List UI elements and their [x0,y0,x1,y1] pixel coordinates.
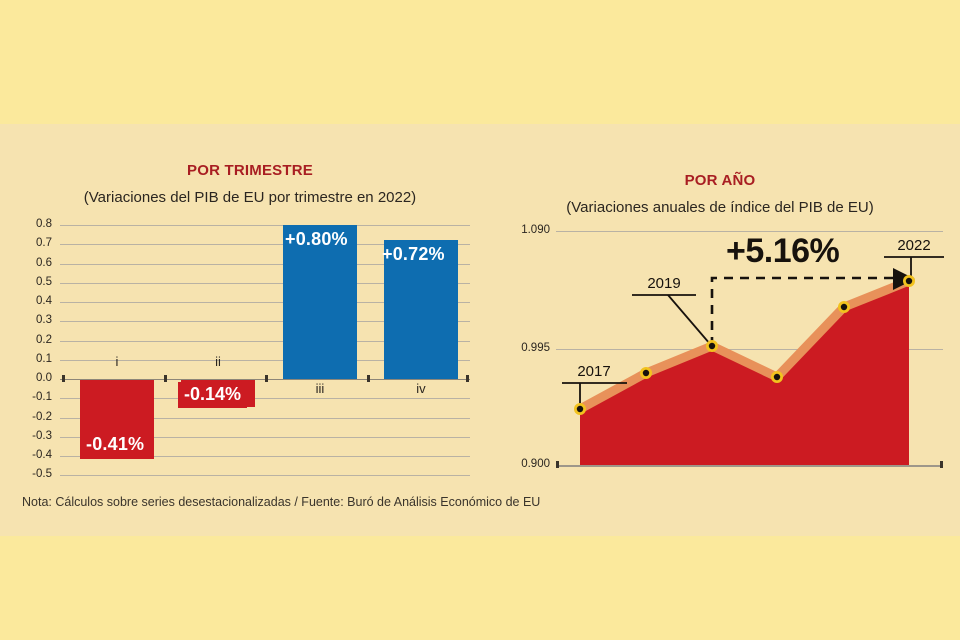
marker-dot-2021 [841,304,847,310]
area-series-svg [0,0,960,640]
growth-callout: +5.16% [726,232,839,271]
area-fill [580,281,909,465]
point-label-2019: 2019 [634,275,694,292]
marker-dot-2020 [774,374,780,380]
source-note: Nota: Cálculos sobre series desestaciona… [22,495,540,509]
marker-dot-2018 [643,370,649,376]
point-label-2022: 2022 [884,237,944,254]
marker-dot-2017 [577,406,583,412]
marker-dot-2019 [709,343,715,349]
point-label-2017: 2017 [564,363,624,380]
infographic-root: POR TRIMESTRE (Variaciones del PIB de EU… [0,0,960,640]
leader-line-2019 [668,295,710,344]
marker-dot-2022 [906,278,912,284]
